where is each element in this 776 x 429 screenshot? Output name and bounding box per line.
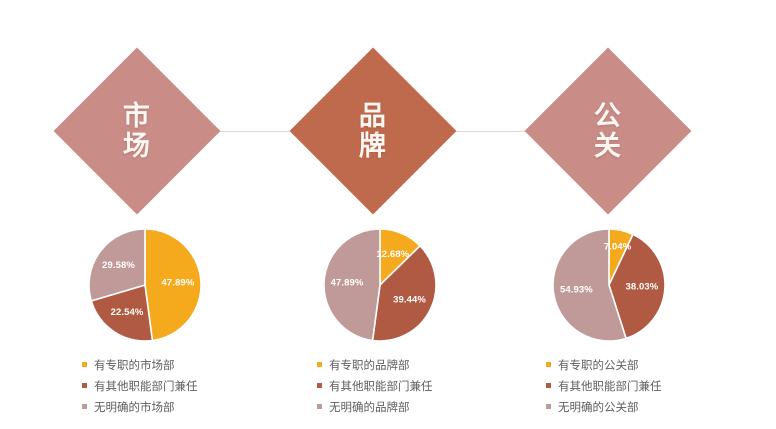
- legend-brand: 有专职的品牌部有其他职能部门兼任无明确的品牌部: [317, 354, 505, 417]
- pie-svg: 7.04%38.03%54.93%: [552, 228, 666, 342]
- pie-svg: 12.68%39.44%47.89%: [323, 228, 437, 342]
- chart-panel-brand: 12.68%39.44%47.89% 有专职的品牌部有其他职能部门兼任无明确的品…: [255, 228, 505, 417]
- legend-item-label: 无明确的市场部: [94, 399, 175, 415]
- pie-svg: 47.89%22.54%29.58%: [88, 228, 202, 342]
- legend-swatch-icon: [317, 383, 322, 388]
- legend-item: 无明确的品牌部: [317, 396, 505, 417]
- legend-item: 无明确的公关部: [546, 396, 734, 417]
- node-label-market: 市 场: [123, 101, 151, 161]
- legend-swatch-icon: [317, 404, 322, 409]
- legend-item-label: 无明确的公关部: [558, 399, 639, 415]
- legend-swatch-icon: [82, 362, 87, 367]
- legend-swatch-icon: [82, 404, 87, 409]
- legend-market: 有专职的市场部有其他职能部门兼任无明确的市场部: [82, 354, 270, 417]
- node-label-brand: 品 牌: [359, 101, 387, 161]
- legend-item-label: 有其他职能部门兼任: [329, 378, 433, 394]
- legend-swatch-icon: [546, 404, 551, 409]
- pie-chart-market: 47.89%22.54%29.58%: [88, 228, 202, 342]
- legend-item-label: 有专职的品牌部: [329, 357, 410, 373]
- legend-item-label: 有其他职能部门兼任: [94, 378, 198, 394]
- pie-slice-label: 38.03%: [626, 282, 659, 293]
- legend-item: 有其他职能部门兼任: [317, 375, 505, 396]
- legend-swatch-icon: [82, 383, 87, 388]
- legend-item-label: 有专职的公关部: [558, 357, 639, 373]
- pie-slice-label: 7.04%: [604, 241, 632, 252]
- legend-pr: 有专职的公关部有其他职能部门兼任无明确的公关部: [546, 354, 734, 417]
- legend-item: 有专职的公关部: [546, 354, 734, 375]
- legend-swatch-icon: [546, 362, 551, 367]
- pie-slice-label: 39.44%: [393, 294, 426, 305]
- pie-slice-label: 47.89%: [162, 277, 195, 288]
- legend-item: 有其他职能部门兼任: [82, 375, 270, 396]
- pie-slice-label: 22.54%: [111, 307, 144, 318]
- node-diamond-pr: 公 关: [525, 48, 692, 215]
- chart-panel-market: 47.89%22.54%29.58% 有专职的市场部有其他职能部门兼任无明确的市…: [20, 228, 270, 417]
- node-diamond-brand: 品 牌: [290, 48, 457, 215]
- pie-slice-label: 47.89%: [331, 277, 364, 288]
- pie-slice-label: 54.93%: [560, 285, 593, 296]
- node-diamond-market: 市 场: [54, 48, 221, 215]
- legend-swatch-icon: [546, 383, 551, 388]
- legend-item: 无明确的市场部: [82, 396, 270, 417]
- infographic-canvas: 市 场 品 牌 公 关 47.89%22.54%29.58% 有专职的市场部有其…: [0, 0, 776, 429]
- chart-panel-pr: 7.04%38.03%54.93% 有专职的公关部有其他职能部门兼任无明确的公关…: [484, 228, 734, 417]
- legend-swatch-icon: [317, 362, 322, 367]
- legend-item: 有其他职能部门兼任: [546, 375, 734, 396]
- legend-item-label: 有其他职能部门兼任: [558, 378, 662, 394]
- legend-item: 有专职的品牌部: [317, 354, 505, 375]
- node-label-pr: 公 关: [594, 101, 622, 161]
- pie-chart-brand: 12.68%39.44%47.89%: [323, 228, 437, 342]
- pie-slice-label: 29.58%: [102, 260, 135, 271]
- legend-item-label: 无明确的品牌部: [329, 399, 410, 415]
- pie-chart-pr: 7.04%38.03%54.93%: [552, 228, 666, 342]
- legend-item-label: 有专职的市场部: [94, 357, 175, 373]
- legend-item: 有专职的市场部: [82, 354, 270, 375]
- pie-slice-label: 12.68%: [376, 249, 409, 260]
